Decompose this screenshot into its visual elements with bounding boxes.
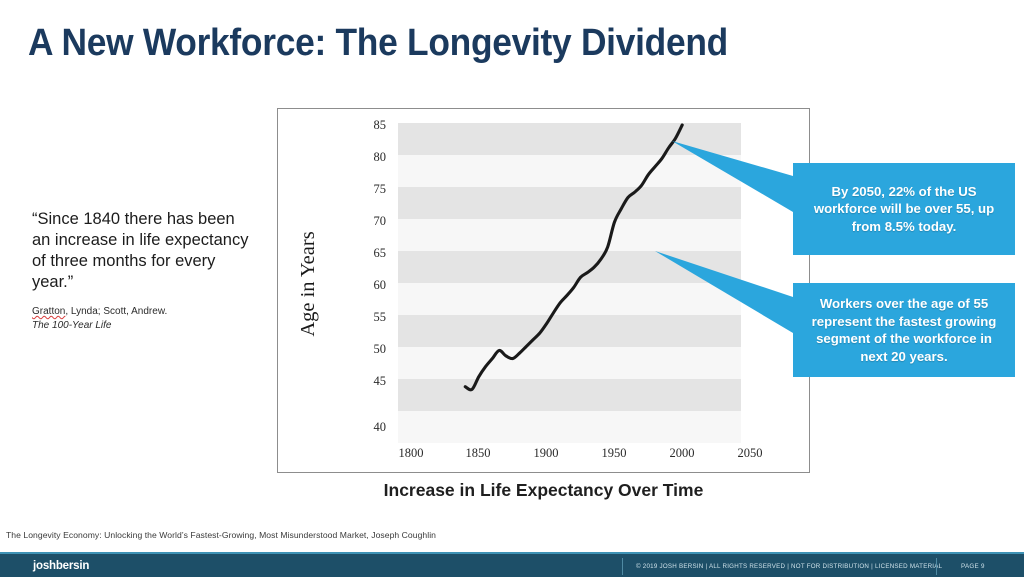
y-axis-label: Age in Years bbox=[297, 231, 319, 336]
y-tick-45: 45 bbox=[374, 374, 387, 388]
brand-logo[interactable]: joshbersin bbox=[33, 560, 89, 572]
y-tick-55: 55 bbox=[374, 310, 387, 324]
callout-over-55-2050: By 2050, 22% of the US workforce will be… bbox=[793, 163, 1015, 255]
chart-bands bbox=[398, 123, 741, 443]
footer-divider-right bbox=[936, 558, 937, 575]
x-axis-ticks: 1800 1850 1900 1950 2000 2050 bbox=[399, 446, 763, 460]
y-axis-ticks: 85 80 75 70 65 60 55 50 45 40 bbox=[374, 118, 387, 434]
quote-text: “Since 1840 there has been an increase i… bbox=[32, 209, 250, 293]
chart-figure: Age in Years 85 80 75 70 65 60 55 50 45 … bbox=[277, 108, 810, 473]
y-tick-80: 80 bbox=[374, 150, 387, 164]
footer-legal-text: © 2019 JOSH BERSIN | ALL RIGHTS RESERVED… bbox=[636, 563, 942, 570]
footer-divider-left bbox=[622, 558, 623, 575]
y-tick-85: 85 bbox=[374, 118, 387, 132]
callout-fastest-growing: Workers over the age of 55 represent the… bbox=[793, 283, 1015, 377]
page-title: A New Workforce: The Longevity Dividend bbox=[28, 22, 728, 65]
x-tick-2050: 2050 bbox=[738, 446, 763, 460]
x-tick-1800: 1800 bbox=[399, 446, 424, 460]
quote-author-rest: , Lynda; Scott, Andrew. bbox=[65, 306, 167, 317]
x-tick-1900: 1900 bbox=[534, 446, 559, 460]
quote-author: Gratton, Lynda; Scott, Andrew. bbox=[32, 306, 167, 319]
quote-attribution: Gratton, Lynda; Scott, Andrew. The 100-Y… bbox=[32, 306, 250, 332]
y-tick-60: 60 bbox=[374, 278, 387, 292]
chart-caption: Increase in Life Expectancy Over Time bbox=[277, 480, 810, 501]
x-tick-1950: 1950 bbox=[602, 446, 627, 460]
callout-1-text: By 2050, 22% of the US workforce will be… bbox=[803, 183, 1005, 236]
quote-book-title: The 100-Year Life bbox=[32, 320, 250, 333]
quote-block: “Since 1840 there has been an increase i… bbox=[32, 209, 250, 332]
y-tick-65: 65 bbox=[374, 246, 387, 260]
page-number: PAGE 9 bbox=[961, 563, 985, 570]
footer-bar: joshbersin © 2019 JOSH BERSIN | ALL RIGH… bbox=[0, 552, 1024, 577]
quote-author-misspelled: Gratton bbox=[32, 306, 65, 317]
x-tick-2000: 2000 bbox=[670, 446, 695, 460]
callout-2-text: Workers over the age of 55 represent the… bbox=[803, 295, 1005, 365]
life-expectancy-line-chart: Age in Years 85 80 75 70 65 60 55 50 45 … bbox=[278, 109, 809, 472]
source-note: The Longevity Economy: Unlocking the Wor… bbox=[6, 530, 436, 540]
y-tick-75: 75 bbox=[374, 182, 387, 196]
y-tick-70: 70 bbox=[374, 214, 387, 228]
x-tick-1850: 1850 bbox=[466, 446, 491, 460]
y-tick-40: 40 bbox=[374, 420, 387, 434]
y-tick-50: 50 bbox=[374, 342, 387, 356]
